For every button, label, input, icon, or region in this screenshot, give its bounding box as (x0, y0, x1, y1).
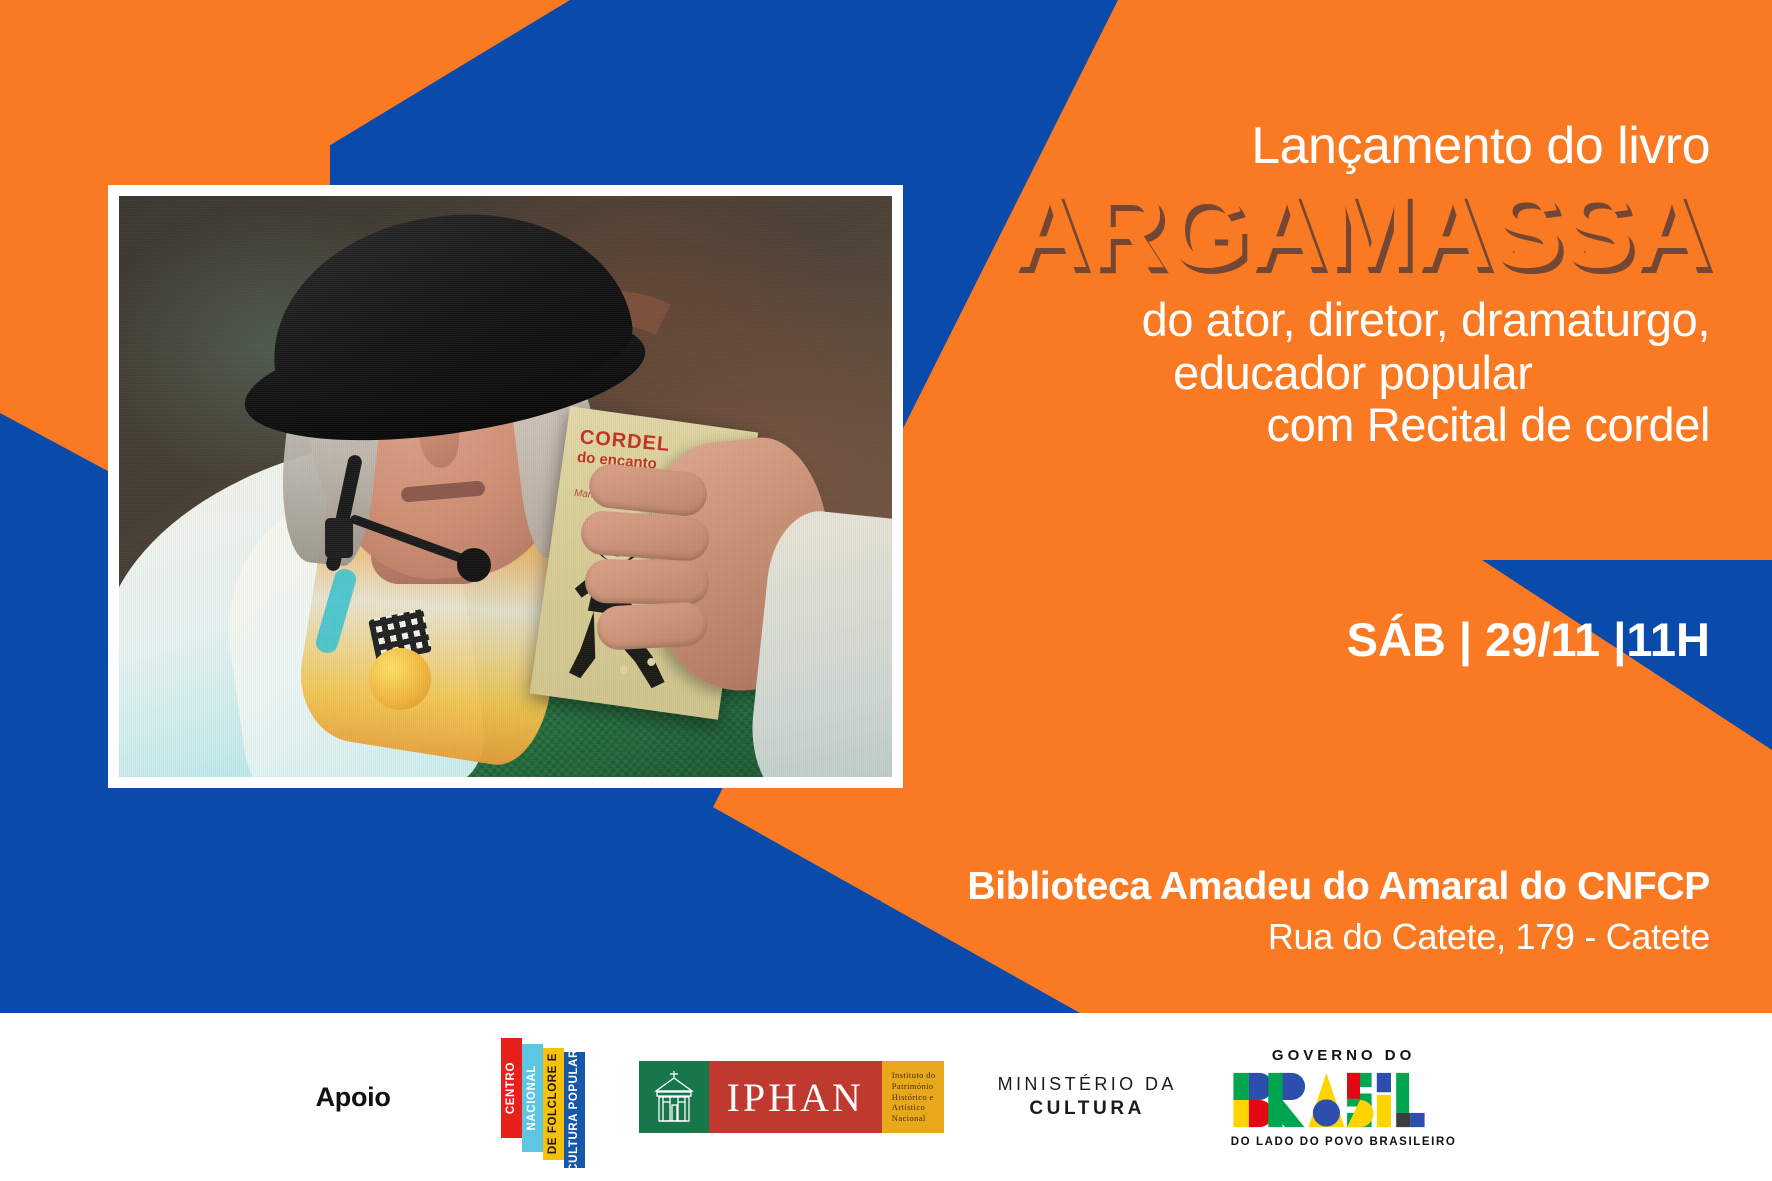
cnfcp-bar-nacional: NACIONAL (522, 1044, 543, 1152)
government-top-label: GOVERNO DO (1231, 1047, 1457, 1064)
finger-3 (585, 559, 710, 605)
book-title: ARGAMASSA (730, 176, 1710, 284)
iphan-expansion-line-4: Artístico (892, 1102, 936, 1113)
event-poster: CORDEL do encanto Maria José F. Lopes (0, 0, 1772, 1181)
brasil-wordmark-icon (1231, 1069, 1427, 1131)
subtitle-block: do ator, diretor, dramaturgo, educador p… (730, 294, 1710, 452)
iphan-expansion-line-3: Histórico e (892, 1092, 936, 1103)
government-tagline: DO LADO DO POVO BRASILEIRO (1231, 1136, 1457, 1148)
iphan-expansion-panel: Instituto do Património Histórico e Artí… (882, 1061, 944, 1133)
iphan-acronym: IPHAN (727, 1074, 864, 1121)
iphan-logo: IPHAN Instituto do Património Histórico … (639, 1061, 944, 1133)
microphone-capsule (457, 548, 491, 582)
cnfcp-bar-cultura: CULTURA POPULAR (564, 1052, 585, 1168)
subtitle-line-1: do ator, diretor, dramaturgo, (730, 294, 1710, 347)
cnfcp-bar-folclore: DE FOLCLORE E (543, 1048, 564, 1160)
iphan-acronym-panel: IPHAN (709, 1061, 882, 1133)
headline-block: Lançamento do livro ARGAMASSA do ator, d… (730, 120, 1710, 452)
sponsor-footer: Apoio CENTRO NACIONAL DE FOLCLORE E CULT… (0, 1013, 1772, 1181)
ministry-of-culture-logo: MINISTÉRIO DA CULTURA (998, 1072, 1177, 1122)
subtitle-line-3: com Recital de cordel (730, 399, 1710, 452)
headset-pack (325, 518, 353, 558)
cnfcp-bar-cultura-label: CULTURA POPULAR (568, 1049, 580, 1172)
apoio-label: Apoio (316, 1082, 391, 1113)
event-datetime: SÁB | 29/11 |11H (1347, 612, 1710, 667)
subtitle-line-2-prefix: educador popular (1173, 346, 1545, 399)
kicker-text: Lançamento do livro (730, 120, 1710, 172)
cnfcp-bar-centro: CENTRO (501, 1038, 522, 1138)
event-location-block: Biblioteca Amadeu do Amaral do CNFCP Rua… (967, 866, 1710, 958)
venue-name: Biblioteca Amadeu do Amaral do CNFCP (967, 866, 1710, 909)
cnfcp-bar-folclore-label: DE FOLCLORE E (547, 1053, 559, 1154)
iphan-expansion-line-2: Património (892, 1081, 936, 1092)
cnfcp-bar-nacional-label: NACIONAL (526, 1065, 538, 1131)
cnfcp-bar-centro-label: CENTRO (505, 1062, 517, 1114)
ministry-line-1: MINISTÉRIO DA (998, 1072, 1177, 1096)
iphan-expansion-line-1: Instituto do (892, 1070, 936, 1081)
subtitle-line-2: educador popular Cascão (730, 347, 1710, 400)
yellow-pompom (369, 648, 431, 710)
cnfcp-logo: CENTRO NACIONAL DE FOLCLORE E CULTURA PO… (501, 1038, 585, 1156)
government-of-brazil-logo: GOVERNO DO (1231, 1047, 1457, 1148)
finger-4 (596, 601, 708, 651)
church-facade-icon (648, 1069, 700, 1125)
iphan-expansion-line-5: Nacional (892, 1113, 936, 1124)
finger-2 (580, 510, 711, 563)
venue-address: Rua do Catete, 179 - Catete (967, 915, 1710, 958)
iphan-church-icon (639, 1061, 709, 1133)
ministry-line-2: CULTURA (998, 1096, 1177, 1122)
speaker-name-highlight: Cascão (1545, 346, 1710, 399)
